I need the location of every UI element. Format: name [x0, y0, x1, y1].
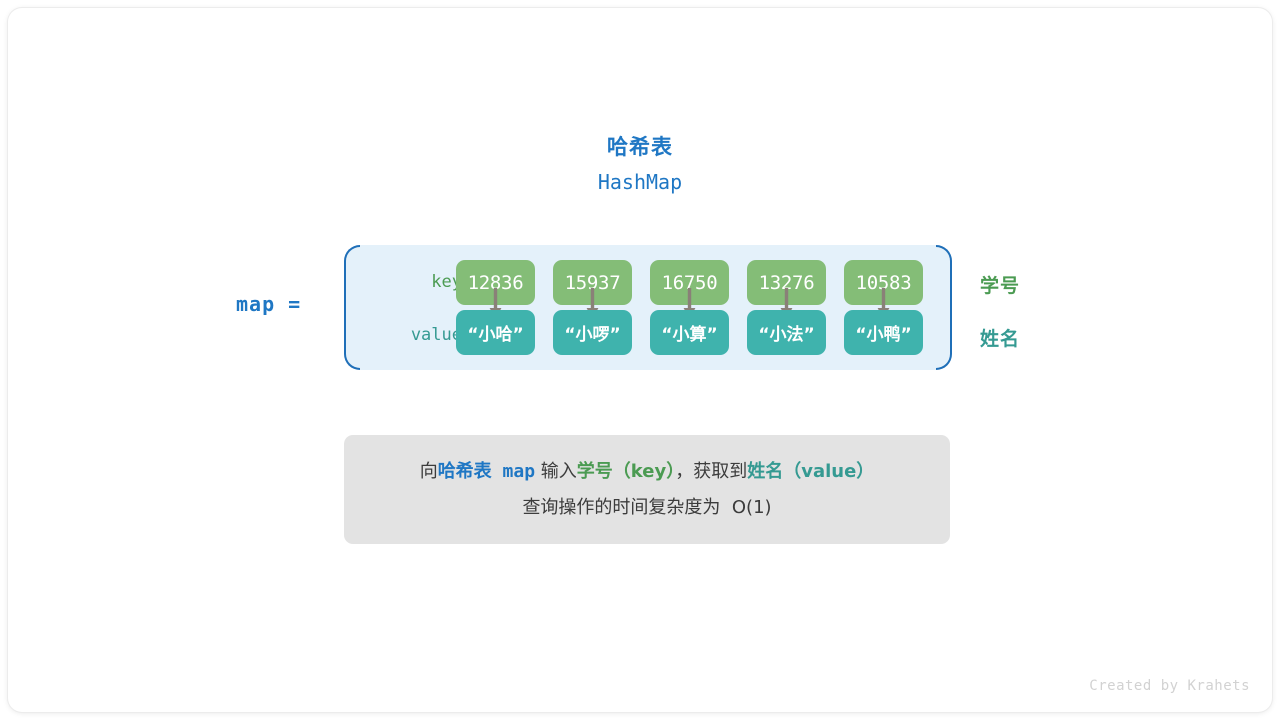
caption-seg-key: 学号（key） [577, 461, 675, 482]
side-label-name: 姓名 [980, 324, 1100, 351]
value-box: “小法” [747, 310, 826, 355]
value-box: “小啰” [553, 310, 632, 355]
value-box: “小哈” [456, 310, 535, 355]
hash-bucket: 13276 “小法” [747, 245, 826, 370]
caption-line-1: 向哈希表 map 输入学号（key），获取到姓名（value） [420, 460, 875, 484]
footer-credit: Created by Krahets [1089, 678, 1250, 694]
right-bracket-icon [936, 245, 952, 370]
hash-table-container: key value 12836 “小哈” 15937 “小啰” [344, 245, 952, 370]
caption-line-2: 查询操作的时间复杂度为 O(1) [522, 496, 771, 520]
value-box: “小鸭” [844, 310, 923, 355]
hash-bucket: 16750 “小算” [650, 245, 729, 370]
side-label-student-id: 学号 [980, 271, 1100, 298]
diagram-canvas: 哈希表 HashMap map = key value 12836 “小哈” 1… [8, 8, 1272, 712]
row-label-key: key [372, 272, 462, 292]
bucket-list: 12836 “小哈” 15937 “小啰” 16750 [456, 245, 936, 370]
page-title: 哈希表 [8, 134, 1272, 160]
caption-seg-value: 姓名（value） [747, 461, 874, 482]
variable-label: map = [236, 292, 346, 316]
caption-seg-input: 输入 [535, 461, 577, 482]
hash-bucket: 12836 “小哈” [456, 245, 535, 370]
row-label-value: value [372, 325, 462, 345]
hash-bucket: 10583 “小鸭” [844, 245, 923, 370]
left-bracket-icon [344, 245, 360, 370]
diagram-title-block: 哈希表 HashMap [8, 134, 1272, 196]
page-subtitle: HashMap [8, 169, 1272, 196]
value-box: “小算” [650, 310, 729, 355]
caption-seg-get: ，获取到 [675, 461, 747, 482]
caption-seg-to: 向 [420, 461, 438, 482]
caption-seg-map: 哈希表 map [438, 461, 535, 482]
caption-box: 向哈希表 map 输入学号（key），获取到姓名（value） 查询操作的时间复… [344, 435, 950, 544]
hash-bucket: 15937 “小啰” [553, 245, 632, 370]
